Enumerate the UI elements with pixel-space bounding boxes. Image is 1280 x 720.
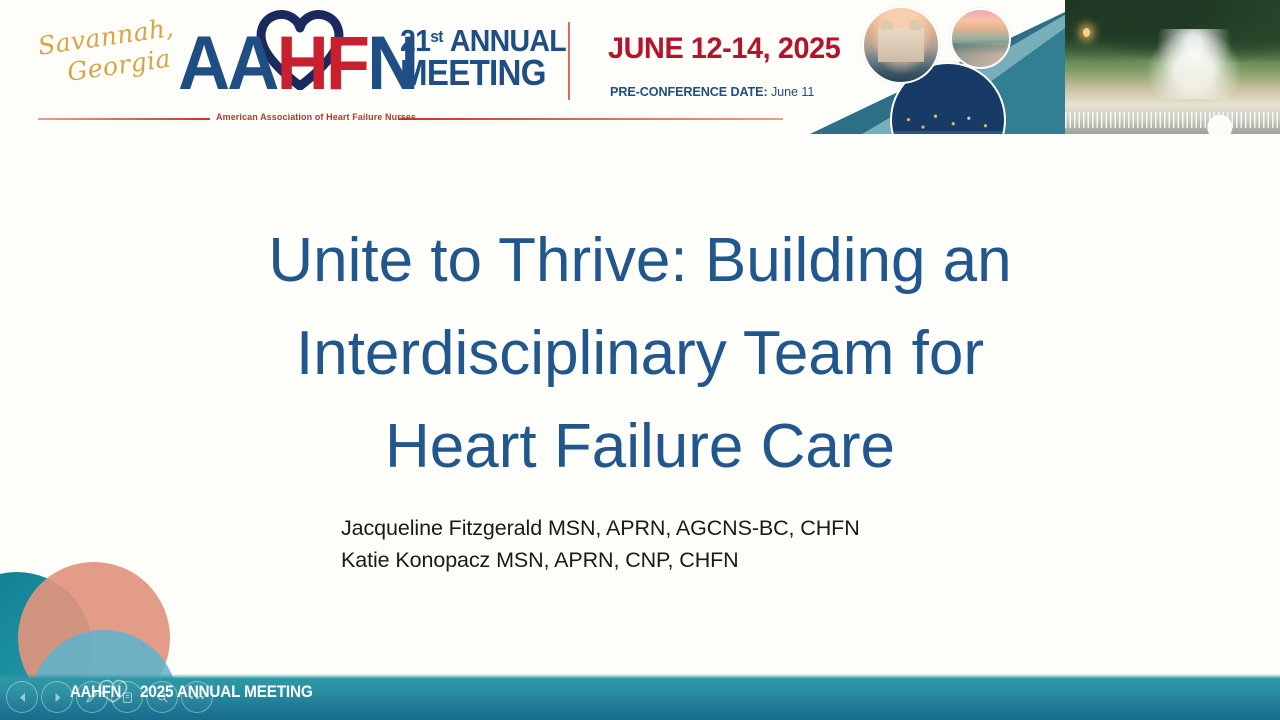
hotel-building: [878, 28, 924, 62]
slide-title-line-2: Interdisciplinary Team for: [110, 307, 1170, 400]
more-options-button[interactable]: [181, 681, 213, 713]
association-tagline: American Association of Heart Failure Nu…: [216, 112, 416, 122]
river-street-sunset-photo: [950, 8, 1011, 69]
zoom-button[interactable]: [146, 681, 178, 713]
city-lights: [896, 106, 1000, 134]
logo-part-hf: HF: [277, 21, 368, 106]
ellipsis-icon: [190, 696, 204, 699]
meeting-ordinal-block: 21st ANNUAL MEETING: [400, 26, 566, 90]
conference-header-banner: Savannah, Georgia AAHFN 21st ANNUAL MEET…: [0, 0, 1280, 134]
forsyth-park-fountain-photo: [1065, 0, 1280, 134]
pen-icon: [85, 690, 99, 704]
draw-annotate-button[interactable]: [76, 681, 108, 713]
presenter-names: Jacqueline Fitzgerald MSN, APRN, AGCNS-B…: [341, 512, 860, 576]
slide-title-line-1: Unite to Thrive: Building an: [110, 214, 1170, 307]
association-rule: American Association of Heart Failure Nu…: [38, 112, 783, 126]
previous-slide-button[interactable]: [6, 681, 38, 713]
presenter-name-2: Katie Konopacz MSN, APRN, CNP, CHFN: [341, 544, 860, 576]
header-vertical-divider: [568, 22, 570, 100]
document-icon: [121, 691, 134, 704]
aahfn-logo: AAHFN: [178, 6, 393, 121]
slide-title-line-3: Heart Failure Care: [110, 400, 1170, 493]
preconference-label: PRE-CONFERENCE DATE:: [610, 84, 768, 99]
play-button[interactable]: [41, 681, 73, 713]
preconference-date: PRE-CONFERENCE DATE: June 11: [610, 84, 814, 99]
rule-right-segment: [398, 118, 783, 120]
aahfn-wordmark: AAHFN: [178, 26, 382, 102]
notes-button[interactable]: [111, 681, 143, 713]
meeting-word: MEETING: [400, 56, 566, 91]
street-lamp-glow: [1083, 28, 1090, 37]
savannah-photo-collage: [790, 0, 1280, 134]
logo-part-aa: AA: [178, 21, 277, 106]
magnifier-icon: [156, 691, 169, 704]
slide-title: Unite to Thrive: Building an Interdiscip…: [110, 214, 1170, 493]
triangle-left-icon: [17, 692, 28, 703]
iron-fence: [1065, 112, 1280, 128]
meeting-ordinal-suffix: st: [430, 27, 442, 46]
presentation-slide: Savannah, Georgia AAHFN 21st ANNUAL MEET…: [0, 0, 1280, 720]
triangle-right-icon: [52, 692, 63, 703]
location-script-text: Savannah, Georgia: [25, 11, 196, 120]
presenter-name-1: Jacqueline Fitzgerald MSN, APRN, AGCNS-B…: [341, 512, 860, 544]
rule-left-segment: [38, 118, 210, 120]
fountain-shape: [1146, 29, 1242, 99]
hotel-riverfront-photo: [862, 6, 940, 84]
video-player-controls[interactable]: [0, 674, 216, 720]
river-street-walk: [952, 43, 1009, 67]
